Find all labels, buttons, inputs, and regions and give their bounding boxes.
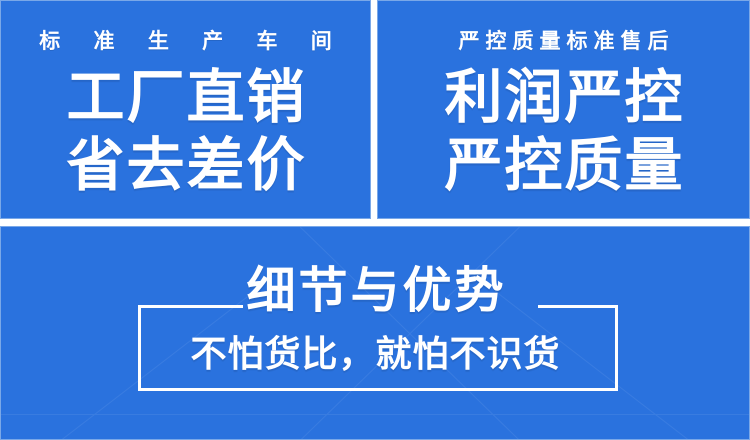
promotional-banner: 标 准 生 产 车 间 工厂直销 省去差价 严控质量标准售后 利润严控 严控质量… <box>0 0 750 440</box>
panel-factory-direct-content: 标 准 生 产 车 间 工厂直销 省去差价 <box>1 1 370 218</box>
quality-control-headline-line2: 严控质量 <box>442 136 684 194</box>
frame-bottom-edge <box>138 388 618 391</box>
details-advantages-title: 细节与优势 <box>0 266 750 315</box>
quality-control-headline-line1: 利润严控 <box>442 68 684 126</box>
panel-factory-direct: 标 准 生 产 车 间 工厂直销 省去差价 <box>0 0 371 219</box>
details-advantages-subtitle: 不怕货比，就怕不识货 <box>0 337 750 373</box>
factory-direct-headline-line1: 工厂直销 <box>64 68 306 126</box>
factory-direct-eyebrow: 标 准 生 产 车 间 <box>26 31 345 52</box>
panel-quality-control: 严控质量标准售后 利润严控 严控质量 <box>377 0 750 219</box>
factory-direct-headline-line2: 省去差价 <box>64 136 306 194</box>
panel-quality-control-content: 严控质量标准售后 利润严控 严控质量 <box>378 1 749 218</box>
quality-control-eyebrow: 严控质量标准售后 <box>453 31 675 52</box>
